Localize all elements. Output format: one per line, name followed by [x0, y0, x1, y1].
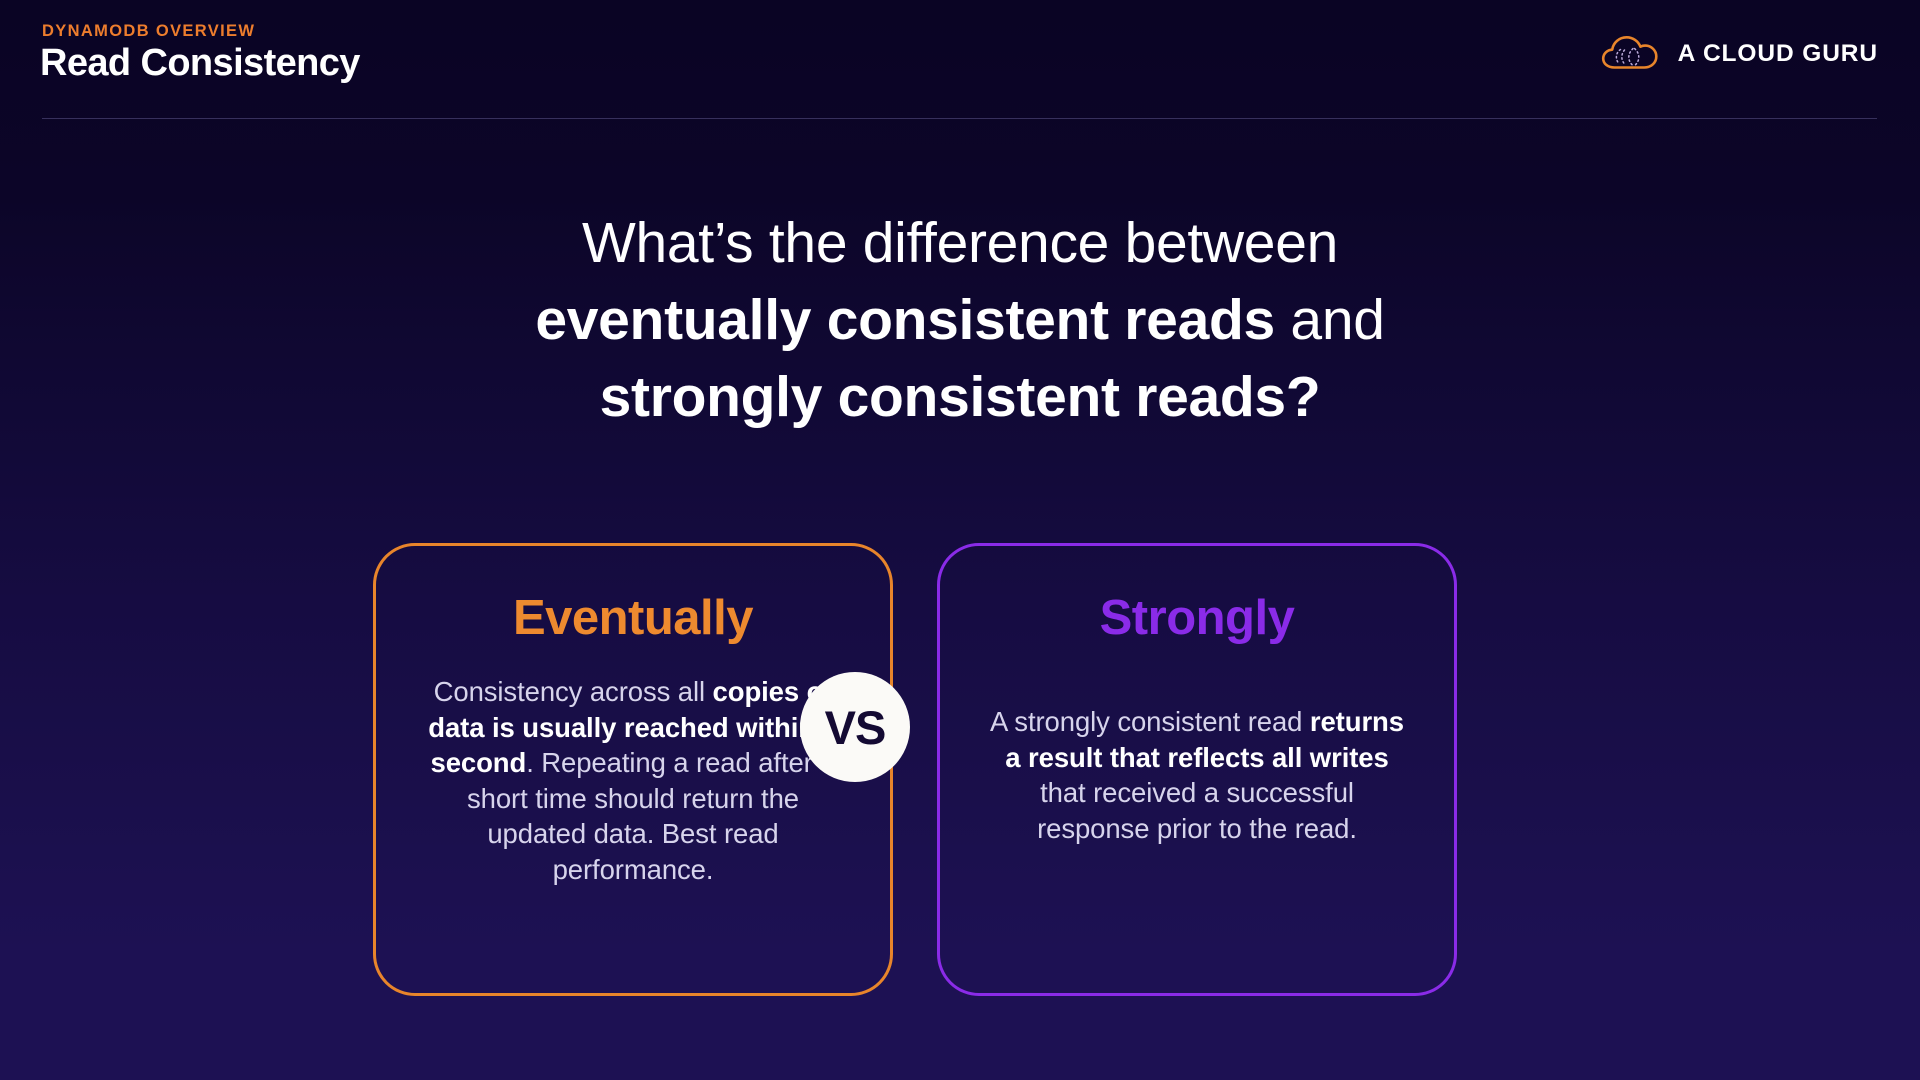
card-strongly: Strongly A strongly consistent read retu…: [937, 543, 1457, 996]
vs-badge-label: VS: [825, 704, 886, 751]
card-strongly-body-part2: that received a successful response prio…: [1037, 777, 1357, 844]
card-strongly-body-part1: A strongly consistent read: [990, 706, 1310, 737]
card-eventually-heading: Eventually: [376, 590, 890, 646]
card-eventually: Eventually Consistency across all copies…: [373, 543, 893, 996]
vs-badge: VS: [800, 672, 910, 782]
card-strongly-body: A strongly consistent read returns a res…: [940, 704, 1454, 846]
card-strongly-heading: Strongly: [940, 590, 1454, 646]
comparison-section: Eventually Consistency across all copies…: [0, 0, 1920, 1080]
card-eventually-body-part1: Consistency across all: [434, 676, 713, 707]
